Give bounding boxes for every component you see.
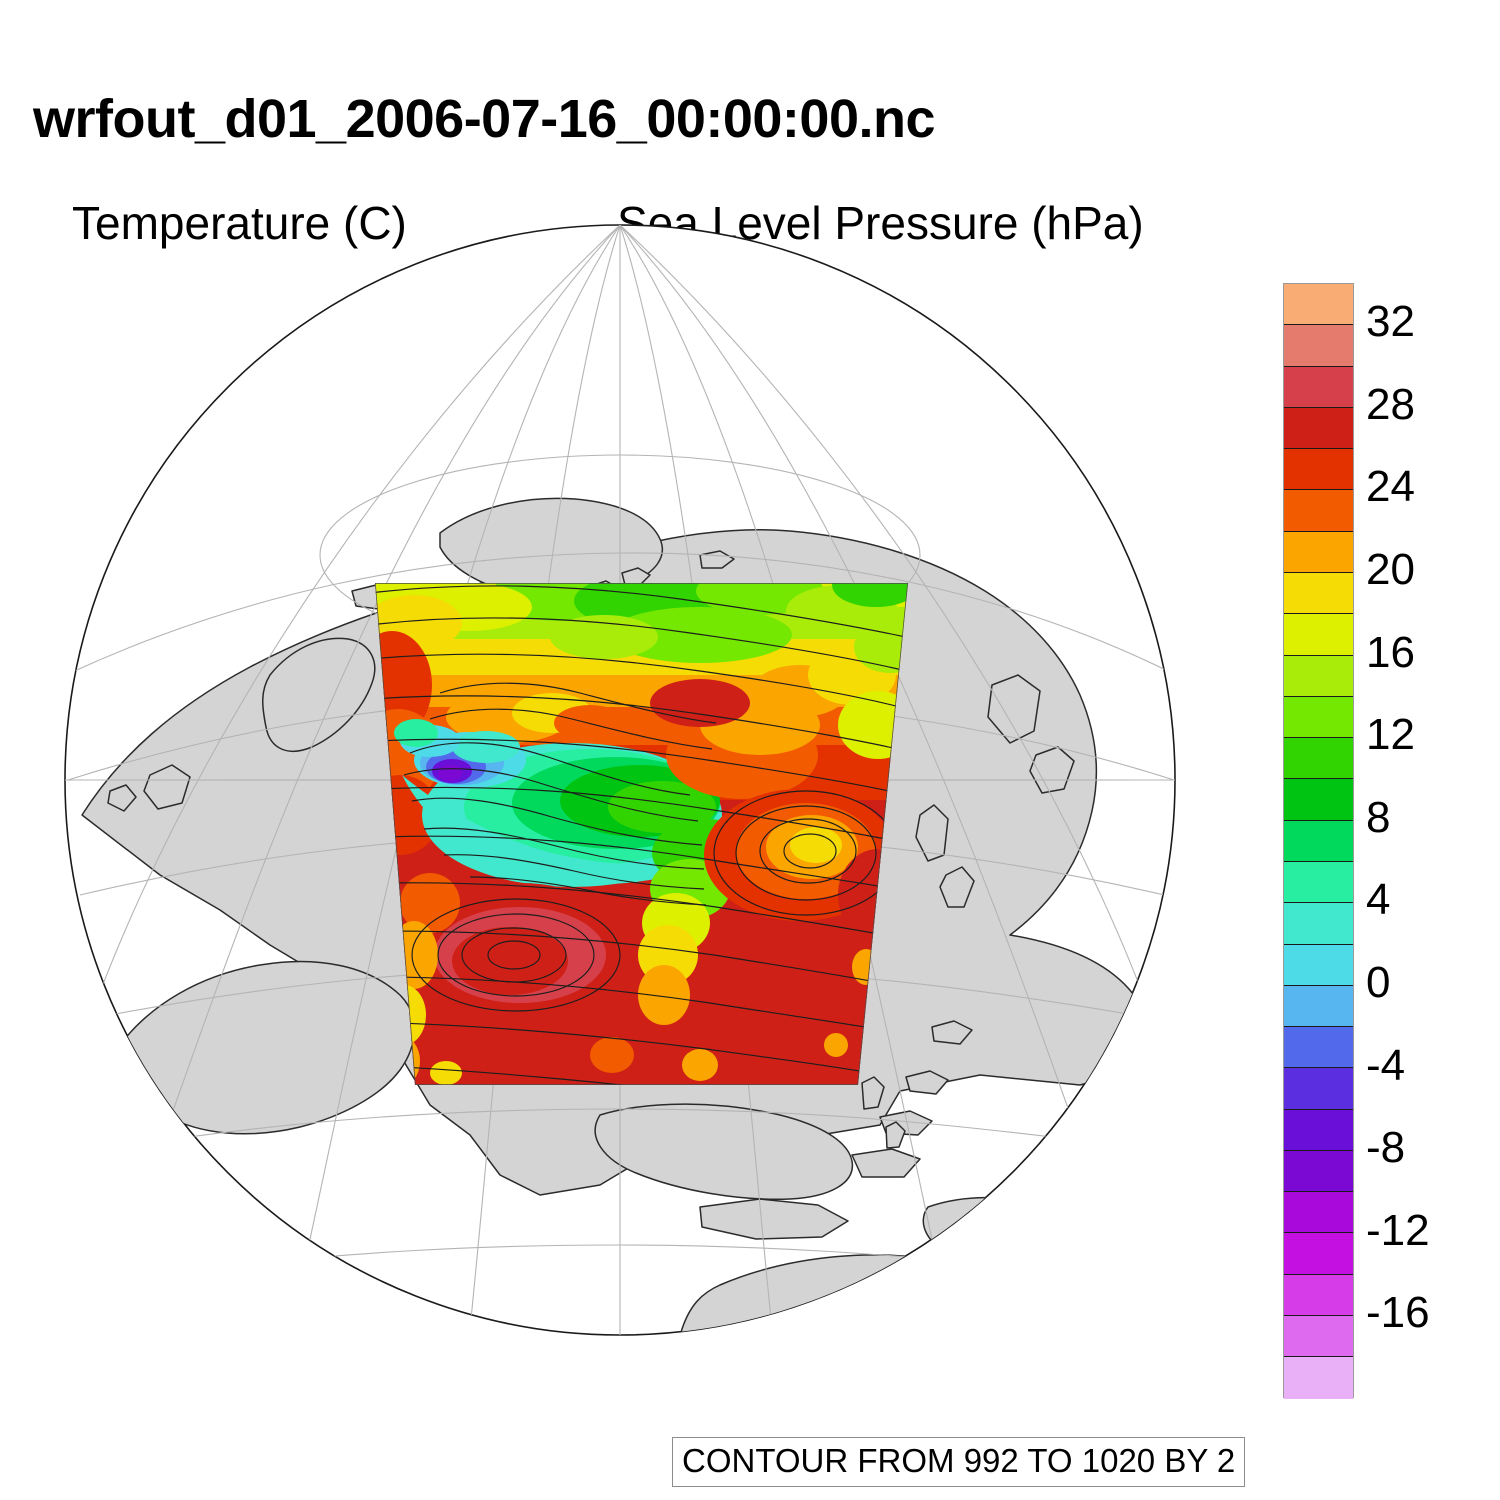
contour-info-box: CONTOUR FROM 992 TO 1020 BY 2 <box>672 1437 1245 1487</box>
colorbar-swatch <box>1284 903 1353 944</box>
map-plot-area <box>0 255 1265 1425</box>
colorbar-swatch <box>1284 1357 1353 1398</box>
colorbar-swatch <box>1284 284 1353 325</box>
colorbar-swatch <box>1284 1151 1353 1192</box>
page-title: wrfout_d01_2006-07-16_00:00:00.nc <box>33 88 935 150</box>
colorbar-tick-label: 20 <box>1366 548 1415 592</box>
colorbar-swatch <box>1284 1068 1353 1109</box>
colorbar-swatch <box>1284 490 1353 531</box>
colorbar-tick-label: -4 <box>1366 1044 1405 1088</box>
colorbar-swatch <box>1284 532 1353 573</box>
orthographic-globe <box>0 255 1265 1425</box>
colorbar-swatch <box>1284 1110 1353 1151</box>
colorbar-swatch <box>1284 697 1353 738</box>
colorbar-swatch <box>1284 408 1353 449</box>
colorbar-swatch <box>1284 738 1353 779</box>
colorbar-tick-label: 16 <box>1366 631 1415 675</box>
colorbar-tick-label: 32 <box>1366 300 1415 344</box>
colorbar-tick-label: 12 <box>1366 713 1415 757</box>
colorbar-tick-label: 8 <box>1366 796 1390 840</box>
colorbar-swatch <box>1284 945 1353 986</box>
colorbar-swatch <box>1284 1275 1353 1316</box>
subtitle-temperature: Temperature (C) <box>72 196 407 250</box>
colorbar-swatch <box>1284 779 1353 820</box>
colorbar-swatch <box>1284 1316 1353 1357</box>
colorbar-swatch <box>1284 573 1353 614</box>
colorbar-tick-label: 4 <box>1366 878 1390 922</box>
colorbar-swatch <box>1284 656 1353 697</box>
colorbar-tick-labels: 322824201612840-4-8-12-16 <box>1366 283 1496 1398</box>
colorbar-swatch <box>1284 862 1353 903</box>
colorbar-swatch <box>1284 1192 1353 1233</box>
colorbar-swatch <box>1284 1233 1353 1274</box>
colorbar-swatch <box>1284 325 1353 366</box>
colorbar-tick-label: -12 <box>1366 1209 1430 1253</box>
wrf-domain-patch <box>352 563 926 1117</box>
colorbar-swatch <box>1284 821 1353 862</box>
colorbar-tick-label: 24 <box>1366 465 1415 509</box>
colorbar-tick-label: -16 <box>1366 1291 1430 1335</box>
colorbar-swatch <box>1284 367 1353 408</box>
colorbar-swatch <box>1284 449 1353 490</box>
colorbar-tick-label: -8 <box>1366 1126 1405 1170</box>
colorbar-tick-label: 0 <box>1366 961 1390 1005</box>
colorbar-tick-label: 28 <box>1366 383 1415 427</box>
temperature-colorbar <box>1283 283 1354 1398</box>
colorbar-swatch <box>1284 986 1353 1027</box>
colorbar-swatch <box>1284 614 1353 655</box>
colorbar-swatch <box>1284 1027 1353 1068</box>
